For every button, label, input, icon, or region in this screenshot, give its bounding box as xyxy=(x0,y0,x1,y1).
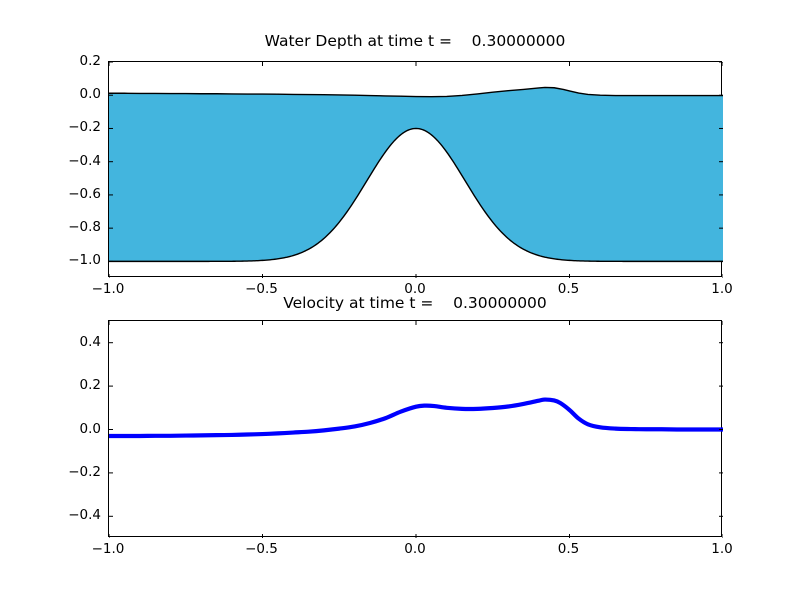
ytick-label: 0.0 xyxy=(41,421,101,437)
xtick-label: 0.5 xyxy=(534,541,604,557)
water-depth-axes xyxy=(108,61,722,277)
xtick-label: −1.0 xyxy=(73,541,143,557)
water-depth-title: Water Depth at time t = 0.30000000 xyxy=(108,32,722,50)
xtick-label: 1.0 xyxy=(687,541,757,557)
ytick-label: 0.2 xyxy=(41,53,101,69)
velocity-plot-area xyxy=(109,321,723,538)
xtick-label: −0.5 xyxy=(227,541,297,557)
xtick-label: 0.0 xyxy=(380,541,450,557)
ytick-label: −0.6 xyxy=(41,186,101,202)
figure-canvas: Water Depth at time t = 0.30000000 Veloc… xyxy=(0,0,800,600)
water-fill-area xyxy=(109,87,723,261)
ytick-label: −0.2 xyxy=(41,119,101,135)
velocity-axes xyxy=(108,320,722,537)
ytick-label: −0.2 xyxy=(41,464,101,480)
ytick-label: −0.8 xyxy=(41,219,101,235)
velocity-line xyxy=(109,400,723,436)
velocity-title: Velocity at time t = 0.30000000 xyxy=(108,294,722,312)
ytick-label: 0.4 xyxy=(41,334,101,350)
ytick-label: −0.4 xyxy=(41,507,101,523)
ytick-label: 0.0 xyxy=(41,86,101,102)
ytick-label: 0.2 xyxy=(41,377,101,393)
ytick-label: −0.4 xyxy=(41,153,101,169)
water-depth-plot-area xyxy=(109,62,723,278)
ytick-label: −1.0 xyxy=(41,252,101,268)
